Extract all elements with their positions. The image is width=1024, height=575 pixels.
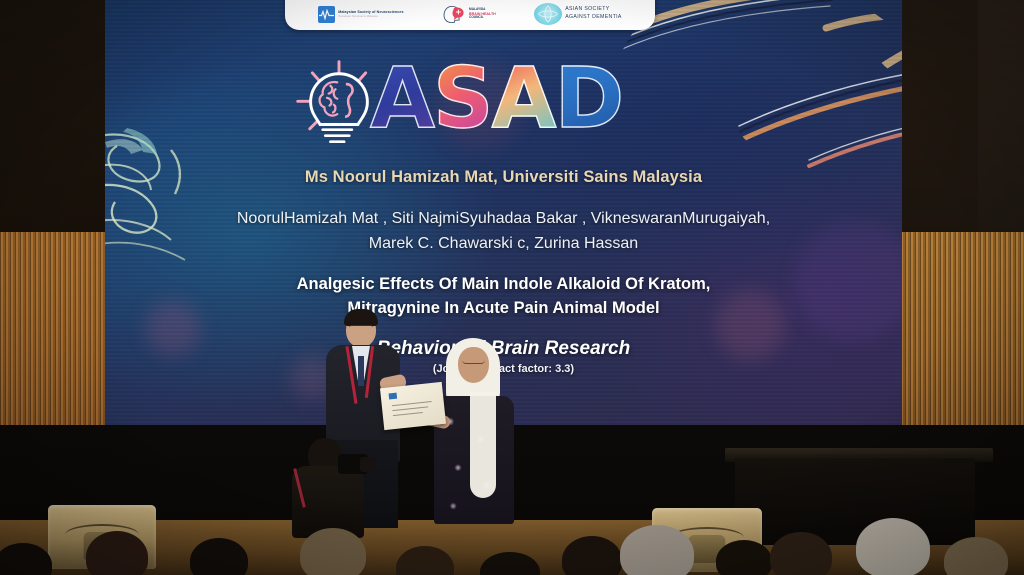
asad-globe-icon bbox=[534, 3, 562, 25]
asad-label-line1: ASIAN SOCIETY bbox=[565, 6, 622, 14]
neurosciences-waveform-icon bbox=[318, 6, 335, 23]
brain-health-council-label: MALAYSIA BRAIN HEALTH COUNCIL bbox=[469, 8, 496, 20]
recipient-smile bbox=[462, 360, 485, 364]
asad-letter-a1: A bbox=[370, 49, 433, 147]
asad-wordmark: ASAD bbox=[290, 52, 645, 148]
asad-letter-d: D bbox=[555, 49, 623, 147]
audience-head bbox=[856, 518, 930, 575]
sponsor-logo-bar: Malaysian Society of Neurosciences Persa… bbox=[285, 0, 655, 30]
neurosciences-sublabel: Persatuan Neurosains Malaysia bbox=[338, 15, 403, 18]
authors-list: NoorulHamizah Mat , Siti NajmiSyuhadaa B… bbox=[105, 206, 902, 256]
audience-head bbox=[86, 531, 148, 575]
mhc-line3: COUNCIL bbox=[469, 15, 484, 19]
table-drape bbox=[735, 455, 975, 545]
presenter-name: Ms Noorul Hamizah Mat, Universiti Sains … bbox=[105, 168, 902, 187]
camera-lens bbox=[360, 457, 376, 472]
presenter-glasses bbox=[349, 325, 373, 330]
recipient-face bbox=[458, 347, 489, 383]
title-line-2: Mitragynine In Acute Pain Animal Model bbox=[105, 296, 902, 320]
asad-letter-s: S bbox=[433, 49, 492, 147]
asad-letters: ASAD bbox=[370, 50, 622, 146]
presenter-hair bbox=[344, 309, 378, 326]
neurosciences-label: Malaysian Society of Neurosciences bbox=[338, 10, 403, 14]
authors-line-2: Marek C. Chawarski c, Zurina Hassan bbox=[105, 231, 902, 256]
logo-malaysian-society-of-neurosciences: Malaysian Society of Neurosciences Persa… bbox=[318, 6, 403, 23]
authors-line-1: NoorulHamizah Mat , Siti NajmiSyuhadaa B… bbox=[105, 206, 902, 231]
asad-label-line2: AGAINST DEMENTIA bbox=[565, 14, 622, 22]
recipient-hijab-drape bbox=[470, 392, 496, 498]
photographer bbox=[288, 438, 374, 538]
asad-letter-a2: A bbox=[492, 49, 555, 147]
audience-head bbox=[770, 532, 832, 575]
mhc-line1: MALAYSIA bbox=[469, 7, 485, 11]
wall-column-right-outer bbox=[978, 0, 1024, 238]
award-certificate bbox=[380, 382, 446, 430]
neurosciences-label-wrap: Malaysian Society of Neurosciences Persa… bbox=[338, 10, 403, 18]
wall-column-left bbox=[0, 0, 108, 236]
award-recipient bbox=[428, 338, 520, 528]
logo-asian-society-against-dementia: ASIAN SOCIETY AGAINST DEMENTIA bbox=[534, 3, 622, 25]
presenter-necktie bbox=[358, 356, 364, 386]
wall-column-right bbox=[900, 0, 978, 238]
audience-head bbox=[300, 528, 366, 575]
asad-society-label: ASIAN SOCIETY AGAINST DEMENTIA bbox=[565, 6, 622, 21]
audience-head bbox=[620, 525, 694, 575]
logo-malaysia-brain-health-council: MALAYSIA BRAIN HEALTH COUNCIL bbox=[442, 4, 496, 24]
conference-stage-photo: ASAD Malaysian Society of Neurosciences … bbox=[0, 0, 1024, 575]
presentation-title: Analgesic Effects Of Main Indole Alkaloi… bbox=[105, 272, 902, 320]
head-brain-icon bbox=[442, 4, 466, 24]
audience-head bbox=[716, 540, 772, 575]
title-line-1: Analgesic Effects Of Main Indole Alkaloi… bbox=[105, 272, 902, 296]
